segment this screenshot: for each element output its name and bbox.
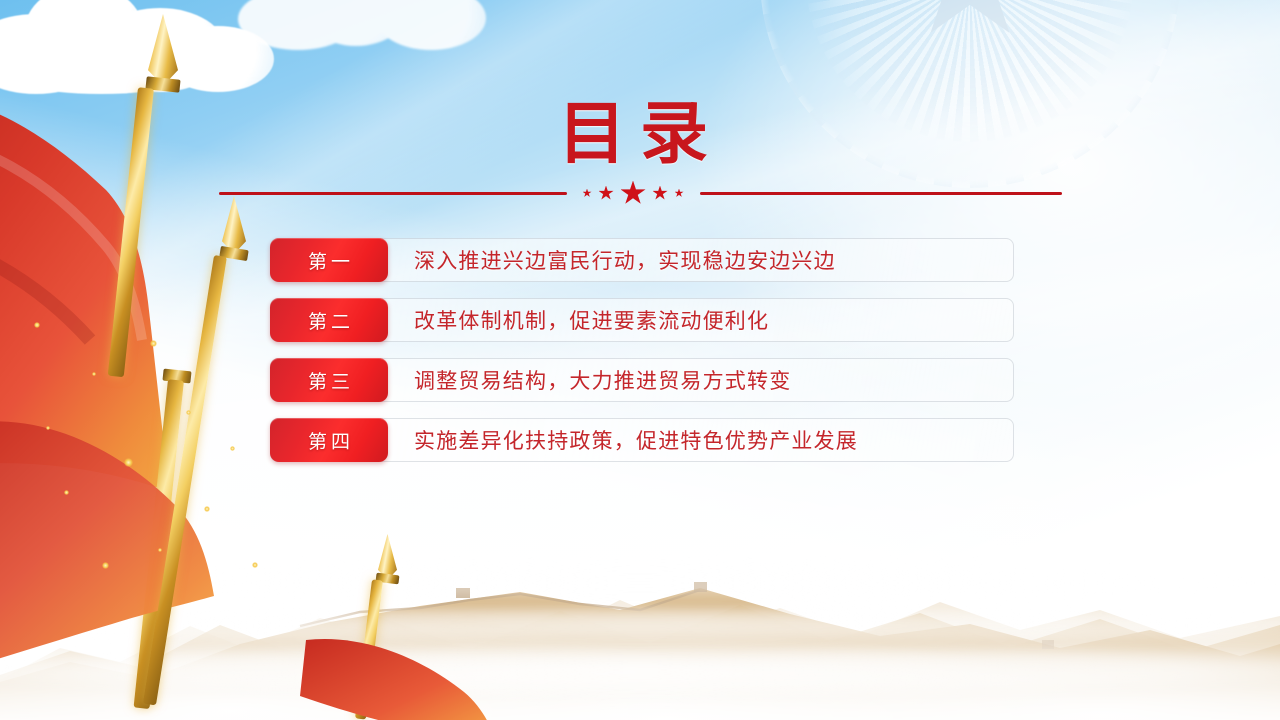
- toc-badge-2: 第二: [270, 298, 388, 342]
- star-icon: [675, 189, 684, 198]
- star-icon: [653, 186, 668, 201]
- star-icon: [583, 189, 592, 198]
- presentation-slide: 目录 第一 深入推进兴边富民行动，实现稳边安边兴边 第二 改革体制机制，促进要素…: [0, 0, 1280, 720]
- toc-item-4[interactable]: 第四 实施差异化扶持政策，促进特色优势产业发展: [270, 418, 1014, 462]
- star-icon: [621, 181, 646, 206]
- toc-item-3[interactable]: 第三 调整贸易结构，大力推进贸易方式转变: [270, 358, 1014, 402]
- toc-item-2[interactable]: 第二 改革体制机制，促进要素流动便利化: [270, 298, 1014, 342]
- toc-item-1[interactable]: 第一 深入推进兴边富民行动，实现稳边安边兴边: [270, 238, 1014, 282]
- toc-badge-3: 第三: [270, 358, 388, 402]
- toc-badge-4: 第四: [270, 418, 388, 462]
- toc-label-1: 深入推进兴边富民行动，实现稳边安边兴边: [388, 238, 1014, 282]
- page-title: 目录: [0, 78, 1280, 177]
- divider-stars: [583, 181, 684, 206]
- toc-badge-1: 第一: [270, 238, 388, 282]
- divider-line-right: [700, 192, 1062, 195]
- table-of-contents: 第一 深入推进兴边富民行动，实现稳边安边兴边 第二 改革体制机制，促进要素流动便…: [270, 238, 1014, 478]
- toc-label-3: 调整贸易结构，大力推进贸易方式转变: [388, 358, 1014, 402]
- toc-label-4: 实施差异化扶持政策，促进特色优势产业发展: [388, 418, 1014, 462]
- toc-label-2: 改革体制机制，促进要素流动便利化: [388, 298, 1014, 342]
- star-icon: [599, 186, 614, 201]
- star-divider: [0, 180, 1280, 206]
- divider-line-left: [219, 192, 567, 195]
